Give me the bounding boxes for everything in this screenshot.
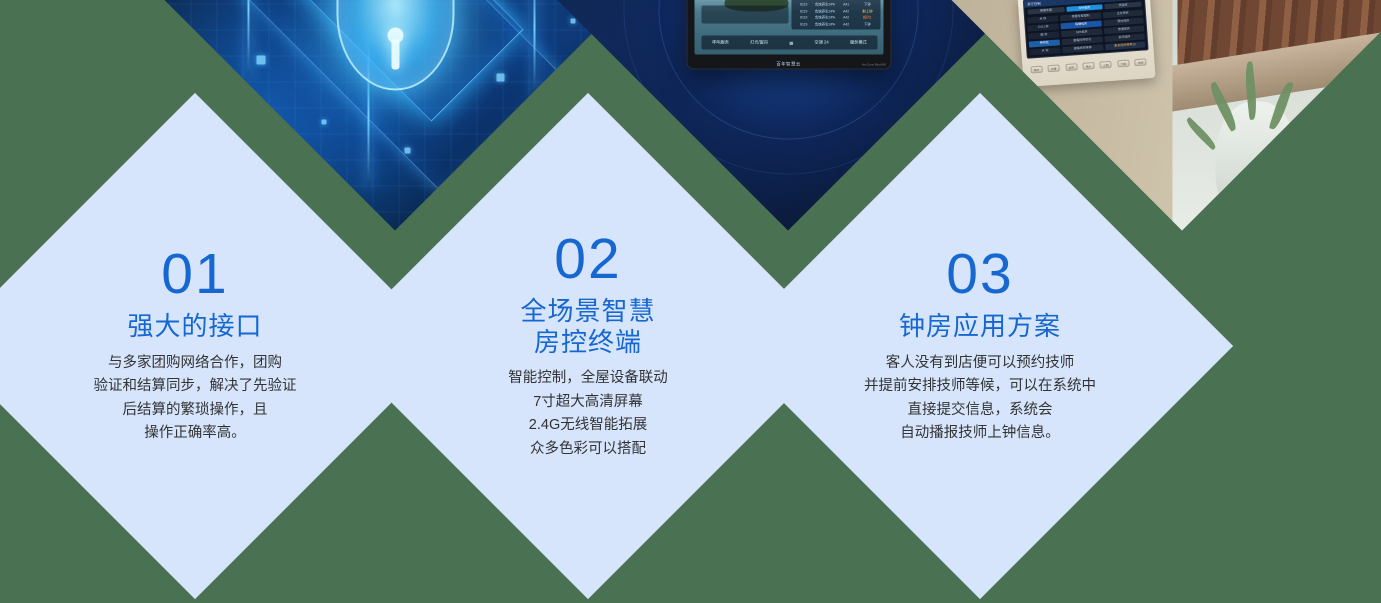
control-tablet-device: CSUZBO 22:35 SPA6房 24°C 11/24: [686, 0, 891, 69]
hard-button[interactable]: 设置: [1048, 65, 1060, 73]
tablet-brand-bottom: 百年智慧云: [687, 61, 890, 67]
desc-line: 自动播报技师上钟信息。: [800, 422, 1160, 445]
card-1-content: 01 强大的接口 与多家团购网络合作，团购 验证和结算同步，解决了先验证 后结算…: [30, 246, 360, 446]
card-title-line: 钟房应用方案: [800, 311, 1160, 342]
desc-line: 并提前安排技师等候，可以在系统中: [800, 375, 1160, 398]
wall-panel-column-1: 保健专案控制 保健包房 SPA包房 查看技师状况 查看技师排钟: [1060, 13, 1103, 54]
infographic-stage: CSUZBO 22:35 SPA6房 24°C 11/24: [0, 0, 1381, 603]
cell: 8119: [793, 21, 814, 27]
wall-panel-side-menu: 点 钟 CALL钟 圈 钟 钟房区 点 钟: [1027, 16, 1061, 56]
card-2-description: 智能控制，全屋设备联动 7寸超大高清屏幕 2.4G无线智能拓展 众多色彩可以搭配: [423, 367, 753, 461]
wall-panel-columns: 保健专案控制 保健包房 SPA包房 查看技师状况 查看技师排钟 正在控房 预约控…: [1060, 10, 1145, 54]
card-1-number: 01: [30, 246, 360, 303]
nav-item: 服务模式: [850, 40, 867, 46]
cell: 会馆养生SPA: [814, 21, 835, 27]
card-3-description: 客人没有到店便可以预约技师 并提前安排技师等候，可以在系统中 直接提交信息，系统…: [800, 352, 1160, 446]
card-1-title: 强大的接口: [30, 311, 360, 342]
wall-panel-body: 点 钟 CALL钟 圈 钟 钟房区 点 钟 保健专案控制 保健包房: [1025, 7, 1148, 57]
tablet-media-bar: [702, 5, 789, 23]
desc-line: 操作正确率高。: [30, 422, 360, 445]
grid-icon: ▦: [789, 40, 793, 45]
cell: 下钟: [857, 21, 878, 27]
hard-button[interactable]: 菜单: [1030, 66, 1042, 74]
card-3-number: 03: [800, 246, 1160, 303]
tablet-service-table: 房人 项目 技师 状态 8119 会馆养生SPA A42 下钟: [791, 0, 880, 30]
nav-item: 呼叫服务: [712, 40, 729, 46]
panel-option[interactable]: 查看技师排钟: [1063, 44, 1104, 53]
wall-panel-column-2: 正在控房 预约控房 普通控房 呆风控房 更多控房推荐10: [1103, 10, 1146, 51]
desc-line: 后结算的繁琐操作，且: [30, 399, 360, 422]
desc-line: 众多色彩可以搭配: [423, 438, 753, 461]
side-menu-item-active[interactable]: 钟房区: [1029, 39, 1061, 48]
nav-item: 灯光/窗帘: [750, 40, 768, 46]
wall-panel-screen: 多厅控制 保健专案 SPA包房 洗浴房 点 钟 CALL钟 圈 钟 钟房区: [1023, 0, 1149, 59]
wall-control-panel: 多厅控制 保健专案 SPA包房 洗浴房 点 钟 CALL钟 圈 钟 钟房区: [1018, 0, 1156, 87]
card-3-content: 03 钟房应用方案 客人没有到店便可以预约技师 并提前安排技师等候，可以在系统中…: [800, 246, 1160, 446]
desc-line: 验证和结算同步，解决了先验证: [30, 375, 360, 398]
card-3-title: 钟房应用方案: [800, 311, 1160, 342]
hard-button[interactable]: 上翻: [1100, 61, 1112, 69]
desc-line: 客人没有到店便可以预约技师: [800, 352, 1160, 375]
side-menu-item[interactable]: 点 钟: [1029, 47, 1061, 56]
desc-line: 智能控制，全屋设备联动: [423, 367, 753, 390]
card-title-line: 房控终端: [423, 327, 753, 358]
tablet-nav-bar: 呼叫服务 灯光/窗帘 ▦ 空调 24 服务模式: [702, 35, 878, 50]
card-title-line: 强大的接口: [30, 311, 360, 342]
nav-item: 空调 24: [815, 40, 829, 46]
card-2-content: 02 全场景智慧 房控终端 智能控制，全屋设备联动 7寸超大高清屏幕 2.4G无…: [423, 231, 753, 461]
desc-line: 与多家团购网络合作，团购: [30, 352, 360, 375]
desc-line: 2.4G无线智能拓展: [423, 414, 753, 437]
hard-button[interactable]: 返回: [1065, 64, 1077, 72]
hard-button[interactable]: 确认: [1082, 62, 1094, 70]
table-row: 8119 会馆养生SPA A42 下钟: [793, 21, 878, 27]
card-2-number: 02: [423, 231, 753, 288]
hard-button[interactable]: 下翻: [1117, 60, 1129, 68]
desc-line: 7寸超大高清屏幕: [423, 391, 753, 414]
card-1-description: 与多家团购网络合作，团购 验证和结算同步，解决了先验证 后结算的繁琐操作，且 操…: [30, 352, 360, 446]
keyhole-icon: [387, 27, 403, 43]
hard-button[interactable]: 电源: [1135, 59, 1147, 67]
tablet-screen: 22:35 SPA6房 24°C 11/24 房人 项目 技师 状态: [694, 0, 883, 54]
tablet-brand-right: Hot Zone Blue240: [862, 62, 886, 66]
card-2-title: 全场景智慧 房控终端: [423, 296, 753, 357]
desc-line: 直接提交信息，系统会: [800, 399, 1160, 422]
cell: A42: [836, 21, 857, 27]
panel-option-alert[interactable]: 更多控房推荐10: [1105, 41, 1146, 50]
card-title-line: 全场景智慧: [423, 296, 753, 327]
